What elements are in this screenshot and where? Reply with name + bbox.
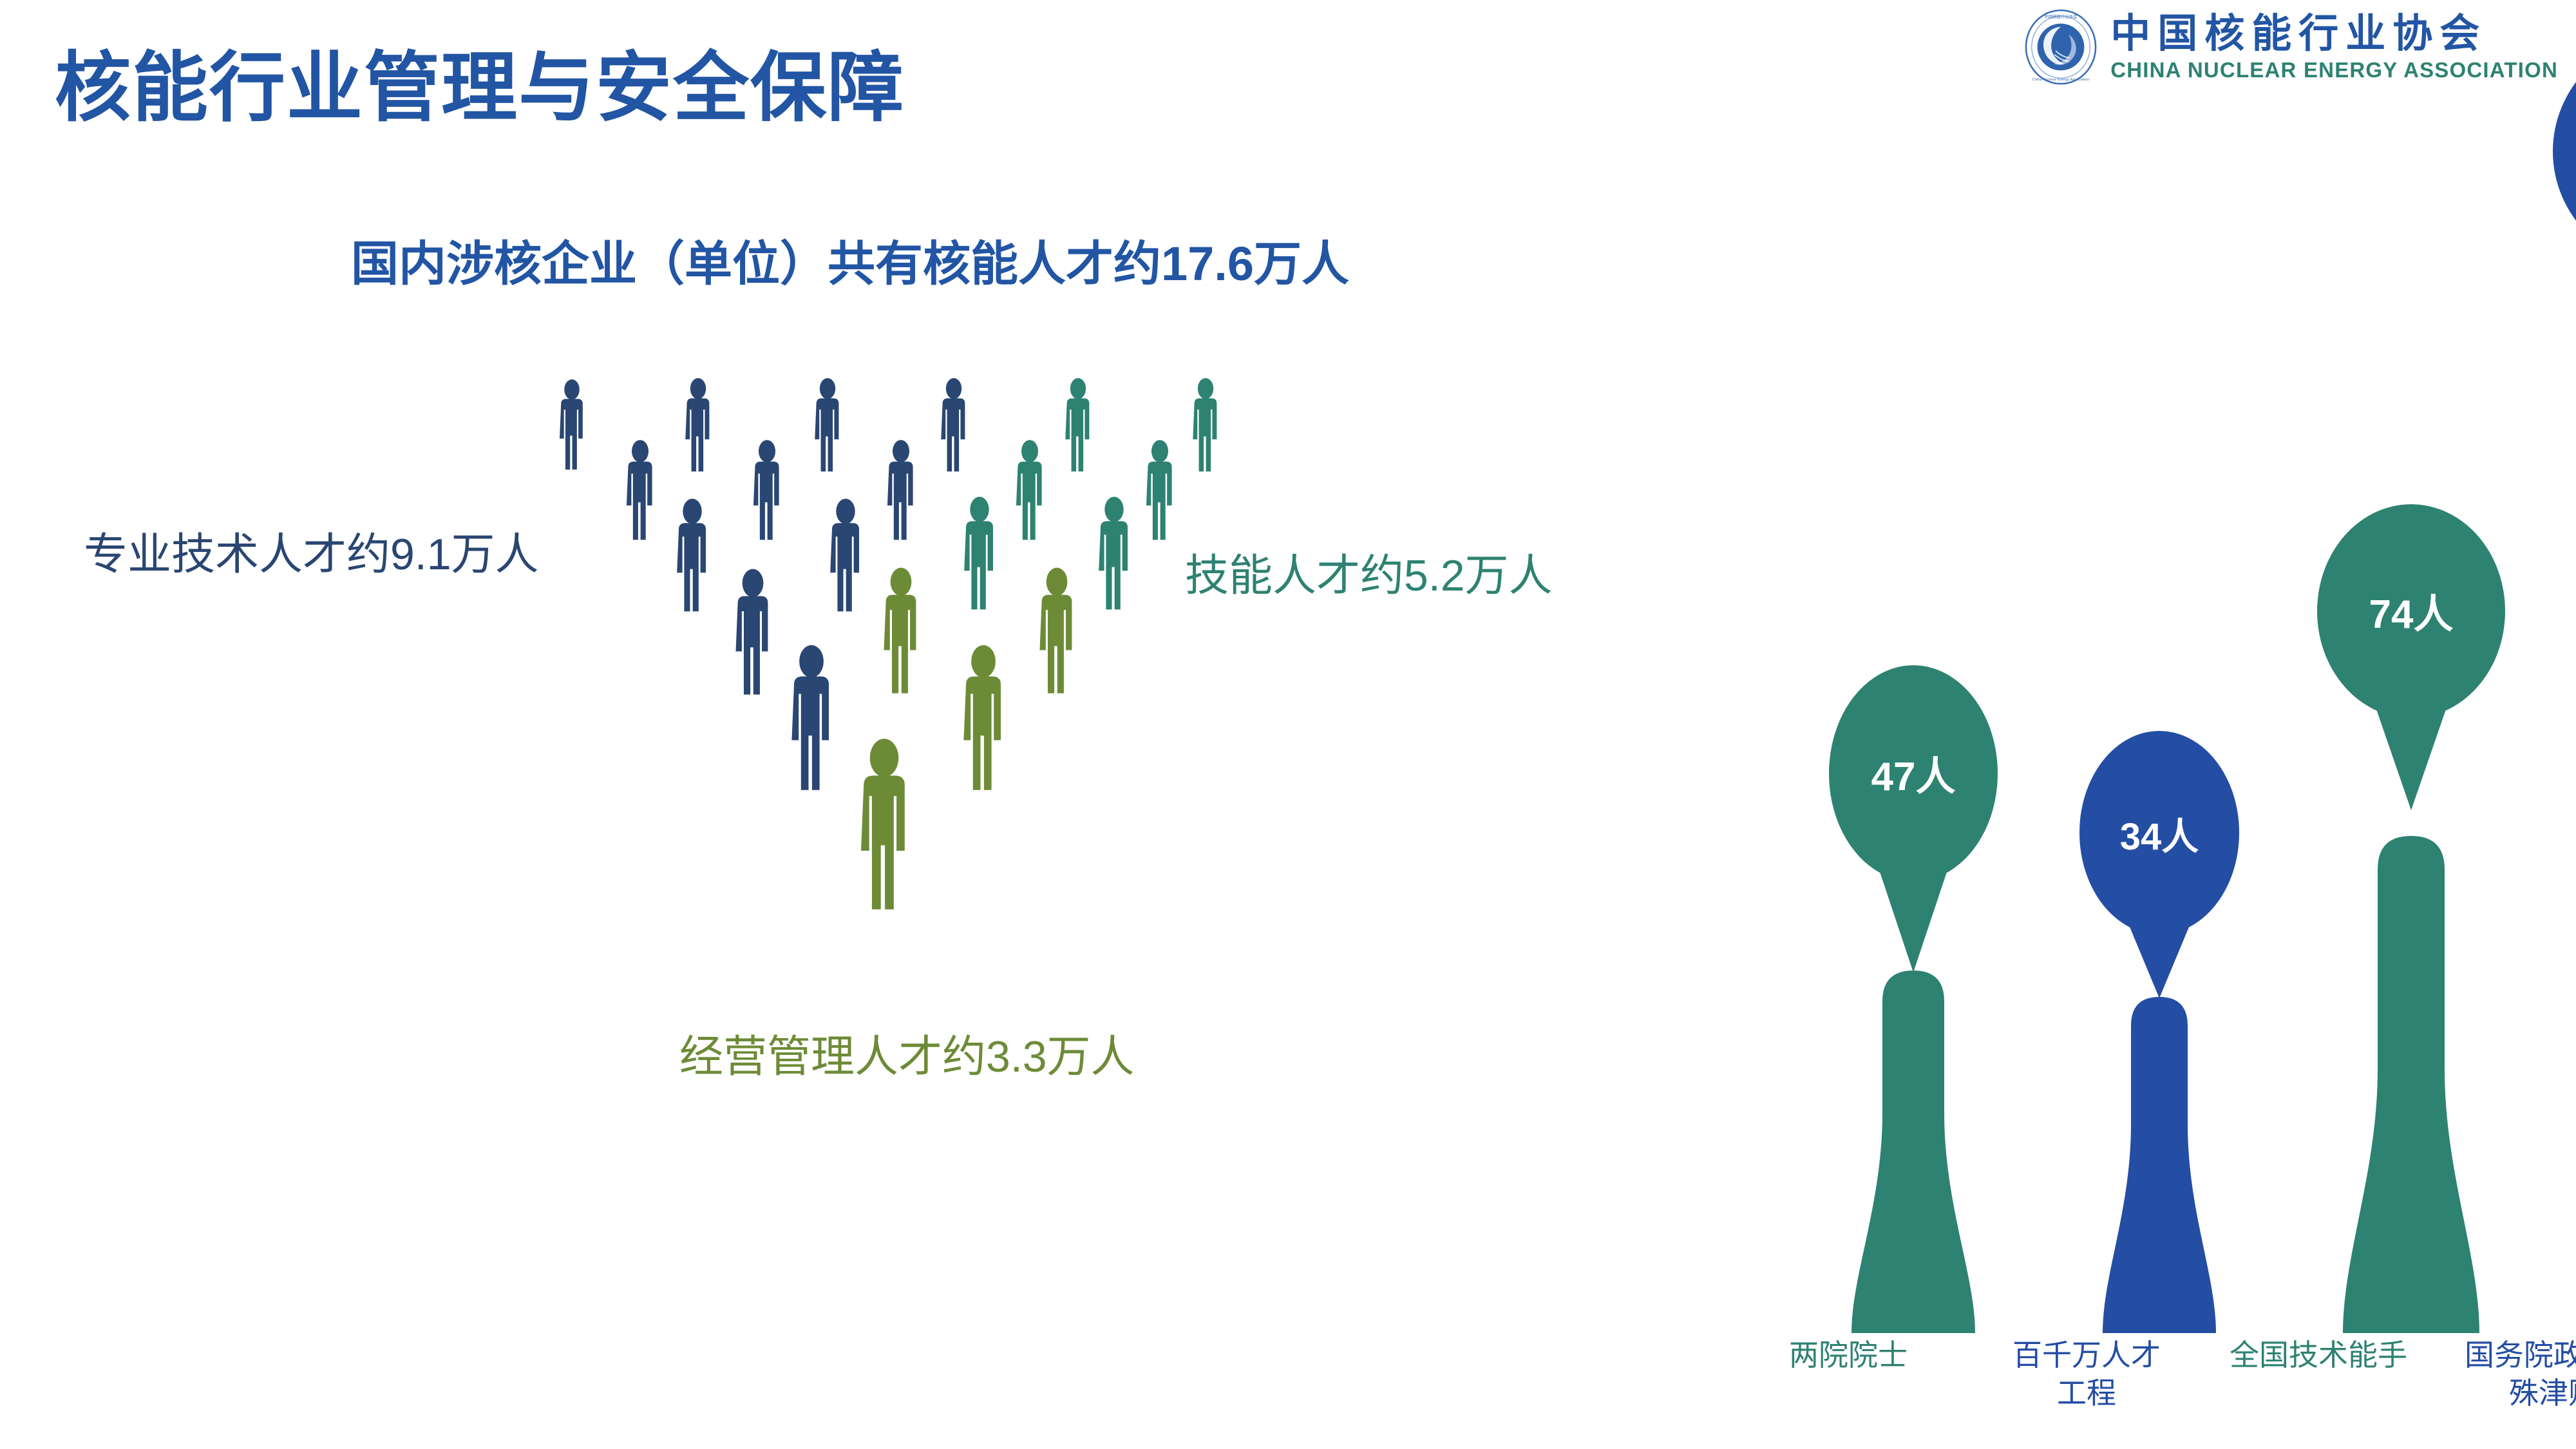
- tick-label-1: 百千万人才工程: [2000, 1336, 2173, 1412]
- person-icon: [753, 440, 779, 540]
- slide-root: 核能行业管理与安全保障 中国核能行业协会 China Nuclear Energ…: [0, 0, 2576, 1449]
- logo-chinese-name: 中国核能行业协会: [2110, 14, 2558, 54]
- honors-tower-chart: 47人 34人 74人 1531人: [1455, 52, 2550, 1449]
- person-icon: [1099, 497, 1128, 609]
- person-icon: [1039, 568, 1072, 694]
- person-icon: [677, 498, 706, 611]
- person-icon: [941, 378, 965, 471]
- label-management-talent: 经营管理人才约3.3万人: [679, 1021, 1135, 1084]
- bubble-pointer-2: [2374, 702, 2448, 810]
- value-text-0: 47人: [1871, 755, 1956, 799]
- bubble-pointer-0: [1877, 864, 1949, 972]
- person-icon: [1016, 440, 1042, 540]
- tick-label-3: 国务院政府特殊津贴: [2460, 1336, 2576, 1412]
- workforce-total-label: 国内涉核企业（单位）共有核能人才约17.6万人: [351, 225, 1349, 294]
- person-icon: [1146, 440, 1172, 540]
- svg-text:中国核能行业协会: 中国核能行业协会: [2045, 14, 2078, 19]
- person-icon: [791, 645, 829, 790]
- tower-group-0[interactable]: 47人: [1829, 665, 1998, 1333]
- tower-column-2: [2343, 836, 2479, 1333]
- tower-column-1: [2103, 997, 2216, 1333]
- tower-group-1[interactable]: 34人: [2079, 731, 2239, 1333]
- label-professional-talent: 专业技术人才约9.1万人: [84, 518, 539, 582]
- person-icon: [1193, 378, 1217, 471]
- workforce-pictogram: [547, 367, 1269, 1018]
- tower-group-3[interactable]: 1531人: [2553, 34, 2576, 1333]
- person-icon: [735, 569, 768, 695]
- person-icon: [627, 440, 652, 540]
- tick-label-0: 两院院士: [1742, 1336, 1955, 1374]
- person-icon: [861, 739, 905, 909]
- people-figures-group: [547, 367, 1269, 1018]
- tower-column-0: [1851, 971, 1975, 1333]
- tower-chart-svg: 47人 34人 74人 1531人: [1455, 52, 2550, 1449]
- person-icon: [815, 378, 838, 471]
- person-icon: [887, 440, 913, 540]
- person-icon: [685, 378, 709, 471]
- person-icon: [963, 645, 1001, 790]
- bubble-pointer-1: [2126, 918, 2193, 998]
- page-title: 核能行业管理与安全保障: [55, 26, 905, 136]
- person-icon: [964, 497, 993, 609]
- tower-group-2[interactable]: 74人: [2317, 504, 2505, 1333]
- person-icon: [1065, 378, 1089, 471]
- person-icon: [560, 379, 583, 469]
- value-text-1: 34人: [2120, 816, 2199, 858]
- value-text-2: 74人: [2369, 592, 2454, 637]
- person-icon: [884, 568, 916, 694]
- person-icon: [830, 498, 859, 611]
- tick-label-2: 全国技术能手: [2199, 1336, 2438, 1374]
